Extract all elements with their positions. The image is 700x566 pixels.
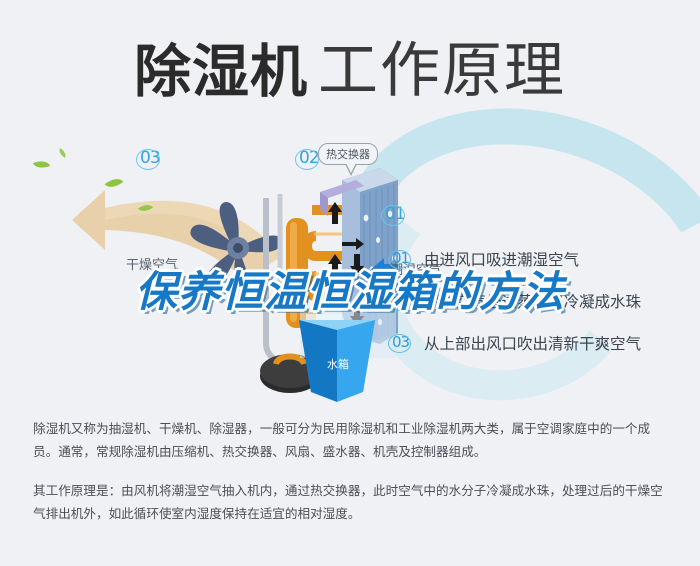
water-tank-label: 水箱 xyxy=(327,356,349,372)
step-number: 03 xyxy=(392,333,409,351)
heat-exchanger-callout: 热交换器 xyxy=(318,143,378,165)
body-paragraph-2: 其工作原理是：由风机将潮湿空气抽入机内，通过热交换器，此时空气中的水分子冷凝成水… xyxy=(33,479,673,525)
step-text: 从上部出风口吹出清新干爽空气 xyxy=(424,335,641,353)
overlay-headline: 保养恒温恒湿箱的方法 xyxy=(0,258,700,319)
page-title-bold: 除湿机 xyxy=(134,39,308,105)
leaf-icon xyxy=(57,148,68,158)
body-copy: 除湿机又称为抽湿机、干燥机、除湿器，一般可分为民用除湿机和工业除湿机两大类，属于… xyxy=(33,417,673,541)
page-title-light: 工作原理 xyxy=(318,36,566,106)
page-title: 除湿机工作原理 xyxy=(0,22,700,109)
leaf-icon xyxy=(33,158,50,172)
badge-02: 02 xyxy=(299,148,319,168)
badge-01: 01 xyxy=(385,204,405,224)
step-item-03: 03 从上部出风口吹出清新干爽空气 xyxy=(392,332,692,374)
infographic-page: 除湿机工作原理 xyxy=(0,0,700,566)
body-paragraph-1: 除湿机又称为抽湿机、干燥机、除湿器，一般可分为民用除湿机和工业除湿机两大类，属于… xyxy=(33,417,673,463)
badge-03: 03 xyxy=(140,148,160,168)
